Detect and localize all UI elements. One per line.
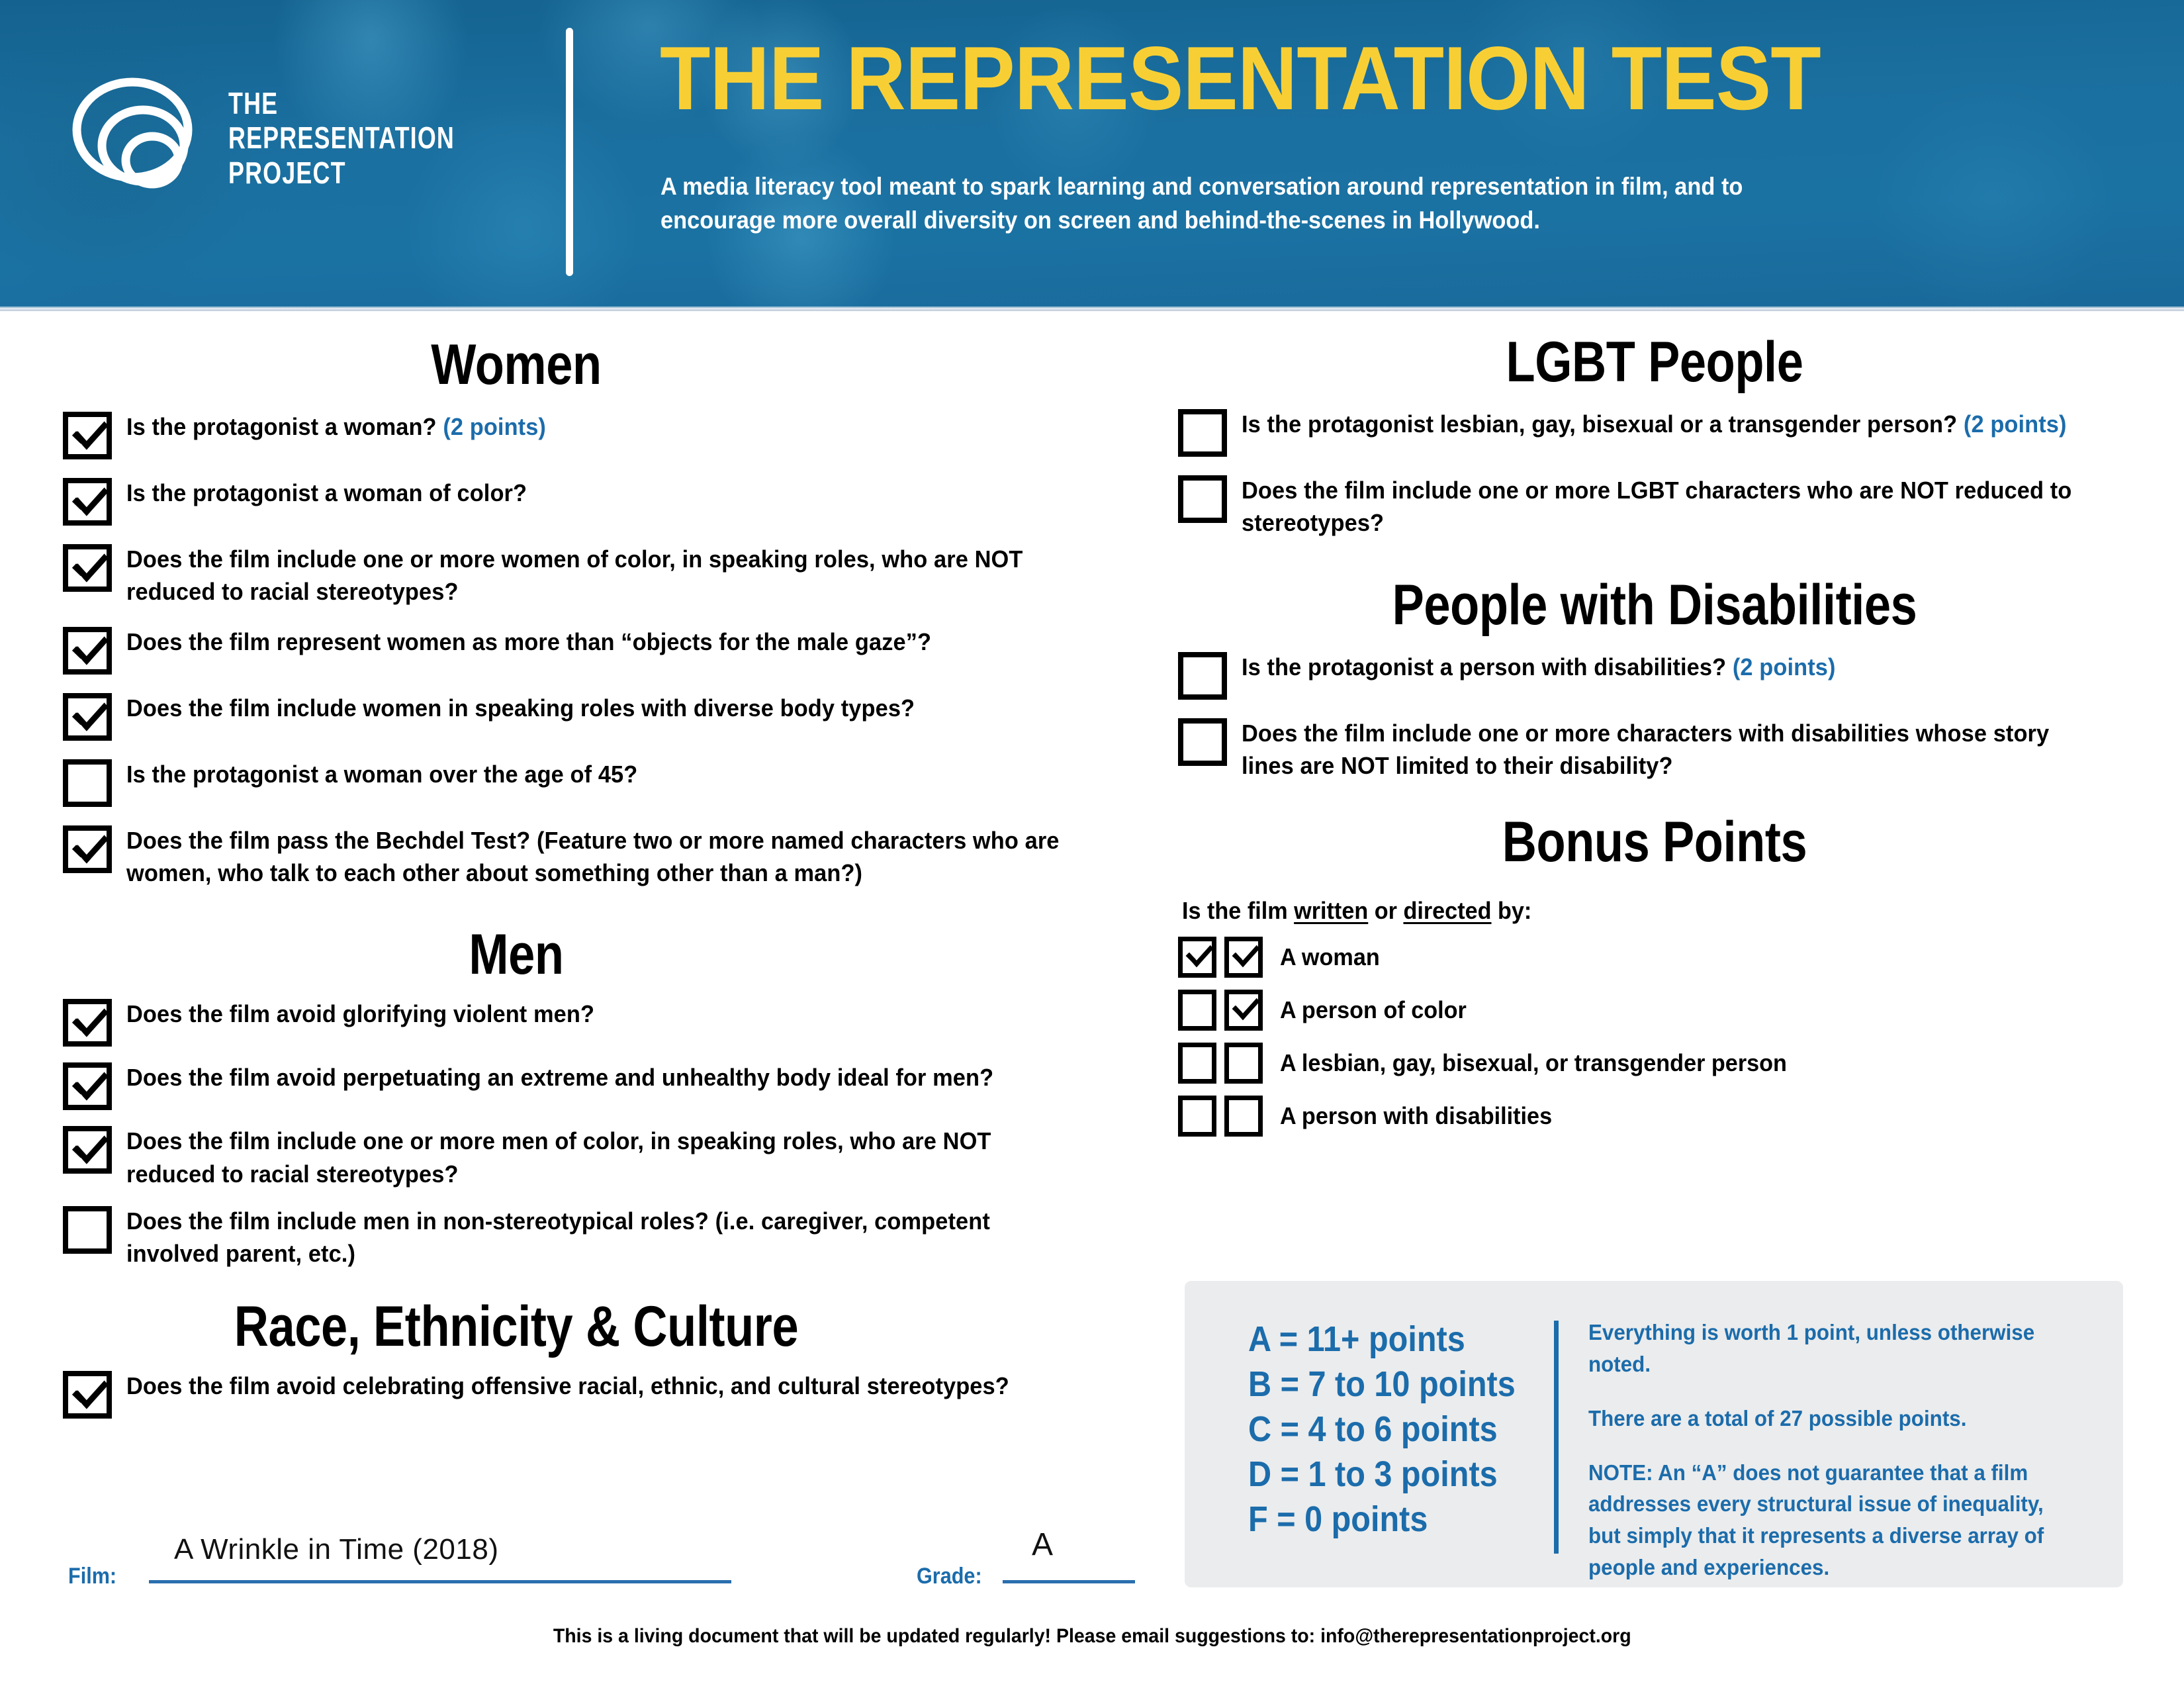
checklist-item-label: Is the protagonist a woman? (2 points) xyxy=(126,410,546,443)
checkbox-lgbt-2[interactable] xyxy=(1178,475,1227,523)
checklist-item-label: Does the film avoid perpetuating an extr… xyxy=(126,1061,993,1094)
section-title-race: Race, Ethnicity & Culture xyxy=(0,1298,1036,1355)
legend-note-3: NOTE: An “A” does not guarantee that a f… xyxy=(1588,1457,2066,1583)
checklist-item-label: Does the film include one or more women … xyxy=(126,543,1075,608)
checklist-bonus: A woman A person of color A lesbian, gay… xyxy=(1178,937,2131,1137)
legend-note-2: There are a total of 27 possible points. xyxy=(1588,1403,2066,1434)
film-grade-fields: Film: A Wrinkle in Time (2018) Grade: A xyxy=(63,1536,1148,1589)
checklist-item[interactable]: Does the film include men in non-stereot… xyxy=(63,1205,1135,1270)
film-input-rule[interactable] xyxy=(149,1580,731,1583)
checkbox-men-2[interactable] xyxy=(63,1062,112,1110)
footer-text: This is a living document that will be u… xyxy=(553,1625,1631,1648)
checklist-item[interactable]: Is the protagonist a person with disabil… xyxy=(1178,651,2131,700)
checkbox-men-4[interactable] xyxy=(63,1206,112,1254)
bonus-row[interactable]: A person of color xyxy=(1178,990,2131,1031)
checklist-item-label: Does the film represent women as more th… xyxy=(126,626,931,658)
checkbox-women-7[interactable] xyxy=(63,825,112,873)
checklist-item[interactable]: Does the film include one or more women … xyxy=(63,543,1135,608)
grade-input-value[interactable]: A xyxy=(1032,1526,1054,1563)
checkbox-men-3[interactable] xyxy=(63,1126,112,1174)
representation-project-logo-icon xyxy=(71,74,210,213)
bonus-row-label: A person of color xyxy=(1280,996,1467,1024)
grading-legend-box: A = 11+ points B = 7 to 10 points C = 4 … xyxy=(1185,1281,2123,1587)
checklist-item-label: Is the protagonist a woman over the age … xyxy=(126,758,637,790)
checklist-disabilities: Is the protagonist a person with disabil… xyxy=(1178,651,2131,782)
checklist-item[interactable]: Does the film include one or more charac… xyxy=(1178,717,2131,782)
left-column: Women Is the protagonist a woman? (2 poi… xyxy=(63,318,1135,1419)
checkbox-women-1[interactable] xyxy=(63,412,112,459)
points-note: (2 points) xyxy=(443,413,546,440)
brand-line-3: PROJECT xyxy=(228,156,455,190)
checklist-item[interactable]: Does the film include one or more LGBT c… xyxy=(1178,474,2131,539)
checkbox-bonus-written-1[interactable] xyxy=(1178,937,1216,978)
checkbox-bonus-directed-1[interactable] xyxy=(1224,937,1263,978)
grade-scale: A = 11+ points B = 7 to 10 points C = 4 … xyxy=(1248,1317,1516,1542)
checklist-item-label: Does the film avoid glorifying violent m… xyxy=(126,998,594,1030)
checklist-item[interactable]: Does the film represent women as more th… xyxy=(63,626,1135,675)
checkbox-women-2[interactable] xyxy=(63,478,112,526)
checkbox-bonus-written-2[interactable] xyxy=(1178,990,1216,1031)
checklist-item-label: Does the film include women in speaking … xyxy=(126,692,915,724)
checkbox-race-1[interactable] xyxy=(63,1371,112,1419)
checklist-item[interactable]: Does the film include one or more men of… xyxy=(63,1125,1135,1190)
checklist-women: Is the protagonist a woman? (2 points) I… xyxy=(63,410,1135,889)
header-divider xyxy=(566,28,573,276)
checkbox-disabilities-1[interactable] xyxy=(1178,652,1227,700)
section-title-lgbt: LGBT People xyxy=(1254,334,2055,391)
checkbox-bonus-written-3[interactable] xyxy=(1178,1043,1216,1084)
checklist-men: Does the film avoid glorifying violent m… xyxy=(63,998,1135,1270)
page-subtitle: A media literacy tool meant to spark lea… xyxy=(660,169,1843,237)
legend-notes: Everything is worth 1 point, unless othe… xyxy=(1588,1317,2066,1583)
bonus-row-label: A woman xyxy=(1280,943,1380,971)
checkbox-bonus-written-4[interactable] xyxy=(1178,1096,1216,1137)
right-column: LGBT People Is the protagonist lesbian, … xyxy=(1178,318,2131,1137)
checklist-item-label: Does the film pass the Bechdel Test? (Fe… xyxy=(126,824,1075,890)
checklist-item-label: Does the film include one or more men of… xyxy=(126,1125,1075,1190)
checkbox-lgbt-1[interactable] xyxy=(1178,409,1227,457)
checkbox-women-4[interactable] xyxy=(63,627,112,675)
header-bottom-rule xyxy=(0,306,2184,311)
checklist-item-label: Does the film include men in non-stereot… xyxy=(126,1205,1075,1270)
checklist-item-label: Does the film include one or more charac… xyxy=(1242,717,2091,782)
checklist-item[interactable]: Does the film pass the Bechdel Test? (Fe… xyxy=(63,824,1135,890)
checklist-item[interactable]: Does the film avoid celebrating offensiv… xyxy=(63,1370,1135,1419)
bonus-lead-text: Is the film written or directed by: xyxy=(1182,897,2083,925)
page-header: THE REPRESENTATION PROJECT THE REPRESENT… xyxy=(0,0,2184,308)
film-input-value[interactable]: A Wrinkle in Time (2018) xyxy=(174,1533,498,1566)
checkbox-women-6[interactable] xyxy=(63,759,112,807)
bonus-lead-written: written xyxy=(1294,897,1368,924)
checklist-item-label: Does the film include one or more LGBT c… xyxy=(1242,474,2091,539)
checklist-item[interactable]: Is the protagonist a woman over the age … xyxy=(63,758,1135,807)
checklist-item[interactable]: Does the film include women in speaking … xyxy=(63,692,1135,741)
representation-test-worksheet: THE REPRESENTATION PROJECT THE REPRESENT… xyxy=(0,0,2184,1688)
section-title-disabilities: People with Disabilities xyxy=(1254,577,2055,633)
checklist-item[interactable]: Is the protagonist a woman of color? xyxy=(63,477,1135,526)
checklist-item-label: Is the protagonist lesbian, gay, bisexua… xyxy=(1242,408,2067,440)
checklist-item[interactable]: Does the film avoid perpetuating an extr… xyxy=(63,1061,1135,1110)
bonus-row[interactable]: A lesbian, gay, bisexual, or transgender… xyxy=(1178,1043,2131,1084)
checkbox-women-3[interactable] xyxy=(63,544,112,592)
grade-scale-text: A = 11+ points B = 7 to 10 points C = 4 … xyxy=(1248,1317,1516,1542)
checkbox-bonus-directed-2[interactable] xyxy=(1224,990,1263,1031)
brand-wordmark: THE REPRESENTATION PROJECT xyxy=(228,86,455,190)
checkbox-disabilities-2[interactable] xyxy=(1178,718,1227,766)
checklist-race: Does the film avoid celebrating offensiv… xyxy=(63,1370,1135,1419)
checklist-item-label: Is the protagonist a person with disabil… xyxy=(1242,651,1836,683)
checkbox-women-5[interactable] xyxy=(63,693,112,741)
checklist-item[interactable]: Is the protagonist a woman? (2 points) xyxy=(63,410,1135,459)
bonus-row-label: A lesbian, gay, bisexual, or transgender… xyxy=(1280,1049,1787,1077)
bonus-row-label: A person with disabilities xyxy=(1280,1102,1552,1130)
brand-line-1: THE xyxy=(228,86,455,120)
page-title: THE REPRESENTATION TEST xyxy=(660,33,1821,123)
bonus-row[interactable]: A person with disabilities xyxy=(1178,1096,2131,1137)
grade-input-rule[interactable] xyxy=(1003,1580,1135,1583)
points-note: (2 points) xyxy=(1964,410,2067,438)
checklist-item[interactable]: Is the protagonist lesbian, gay, bisexua… xyxy=(1178,408,2131,457)
section-title-men: Men xyxy=(0,926,1036,983)
legend-note-1: Everything is worth 1 point, unless othe… xyxy=(1588,1317,2066,1380)
grade-label: Grade: xyxy=(917,1564,982,1589)
bonus-lead-directed: directed xyxy=(1403,897,1491,924)
checkbox-bonus-directed-4[interactable] xyxy=(1224,1096,1263,1137)
section-title-bonus: Bonus Points xyxy=(1254,814,2055,870)
points-note: (2 points) xyxy=(1733,653,1836,680)
checklist-item[interactable]: Does the film avoid glorifying violent m… xyxy=(63,998,1135,1047)
footer-note: This is a living document that will be u… xyxy=(0,1625,2184,1648)
checklist-lgbt: Is the protagonist lesbian, gay, bisexua… xyxy=(1178,408,2131,539)
checklist-item-label: Is the protagonist a woman of color? xyxy=(126,477,527,509)
brand-line-2: REPRESENTATION xyxy=(228,120,455,155)
section-title-women: Women xyxy=(0,336,1036,393)
checkbox-men-1[interactable] xyxy=(63,999,112,1047)
checklist-item-label: Does the film avoid celebrating offensiv… xyxy=(126,1370,1009,1402)
bonus-row[interactable]: A woman xyxy=(1178,937,2131,978)
legend-divider xyxy=(1554,1321,1559,1554)
checkbox-bonus-directed-3[interactable] xyxy=(1224,1043,1263,1084)
film-label: Film: xyxy=(68,1564,116,1589)
